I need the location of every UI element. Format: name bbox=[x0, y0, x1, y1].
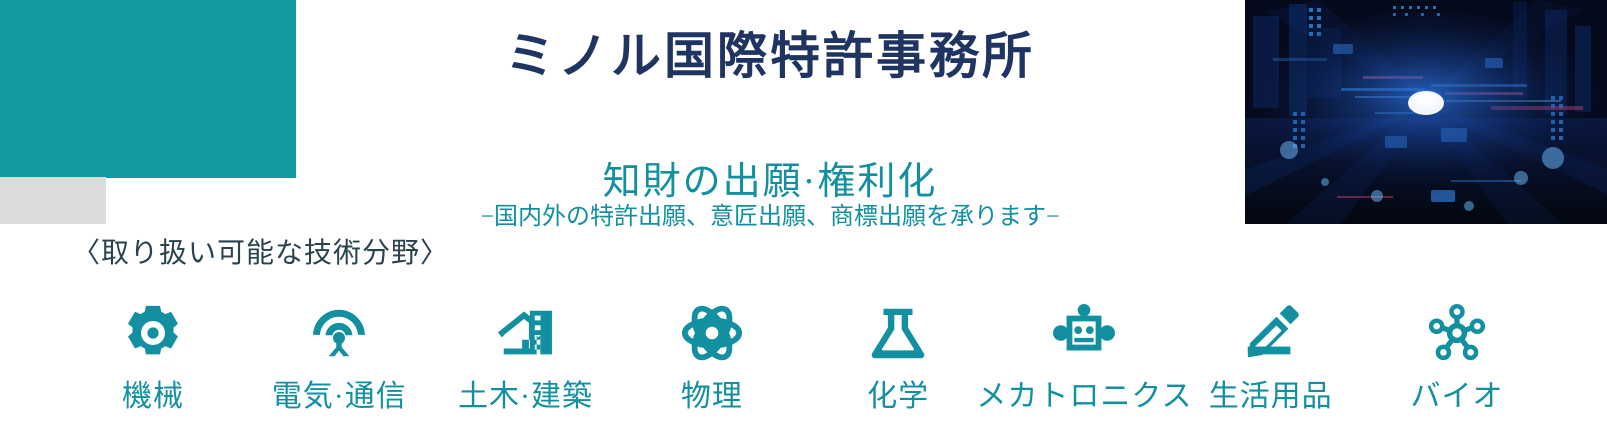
field-label: 電気·通信 bbox=[272, 380, 407, 413]
field-label: 土木·建築 bbox=[458, 380, 593, 413]
flask-icon bbox=[865, 300, 931, 366]
field-label: 化学 bbox=[867, 380, 929, 413]
field-label: メカトロニクス bbox=[976, 380, 1192, 413]
field-label: 生活用品 bbox=[1209, 380, 1333, 413]
teal-decoration-block bbox=[0, 0, 296, 178]
field-item-physics[interactable]: 物理 bbox=[619, 300, 805, 413]
field-item-bio[interactable]: バイオ bbox=[1364, 300, 1550, 413]
technology-fields-row: 機械 電気·通信 土木·建築 bbox=[60, 300, 1550, 413]
page-subtitle-note: −国内外の特許出願、意匠出願、商標出願を承ります− bbox=[300, 196, 1240, 231]
robot-icon bbox=[1051, 300, 1117, 366]
molecule-icon bbox=[1424, 300, 1490, 366]
field-label: 物理 bbox=[681, 380, 743, 413]
field-item-machinery[interactable]: 機械 bbox=[60, 300, 246, 413]
field-item-chemistry[interactable]: 化学 bbox=[805, 300, 991, 413]
building-icon bbox=[493, 300, 559, 366]
site-header-banner: ミノル国際特許事務所 知財の出願·権利化 −国内外の特許出願、意匠出願、商標出願… bbox=[0, 0, 1607, 447]
fields-section-heading: 〈取り扱い可能な技術分野〉 bbox=[72, 231, 449, 271]
gray-decoration-block bbox=[0, 177, 106, 224]
field-item-household-goods[interactable]: 生活用品 bbox=[1178, 300, 1364, 413]
gear-icon bbox=[120, 300, 186, 366]
page-title: ミノル国際特許事務所 bbox=[300, 16, 1240, 88]
antenna-icon bbox=[306, 300, 372, 366]
pencil-icon bbox=[1238, 300, 1304, 366]
field-item-electrical-communications[interactable]: 電気·通信 bbox=[246, 300, 432, 413]
field-label: 機械 bbox=[122, 380, 184, 413]
field-item-civil-architecture[interactable]: 土木·建築 bbox=[433, 300, 619, 413]
field-item-mechatronics[interactable]: メカトロニクス bbox=[991, 300, 1177, 413]
atom-icon bbox=[679, 300, 745, 366]
field-label: バイオ bbox=[1410, 380, 1503, 413]
hero-technology-image bbox=[1245, 0, 1607, 224]
digital-abstract-graphic bbox=[1245, 0, 1607, 224]
